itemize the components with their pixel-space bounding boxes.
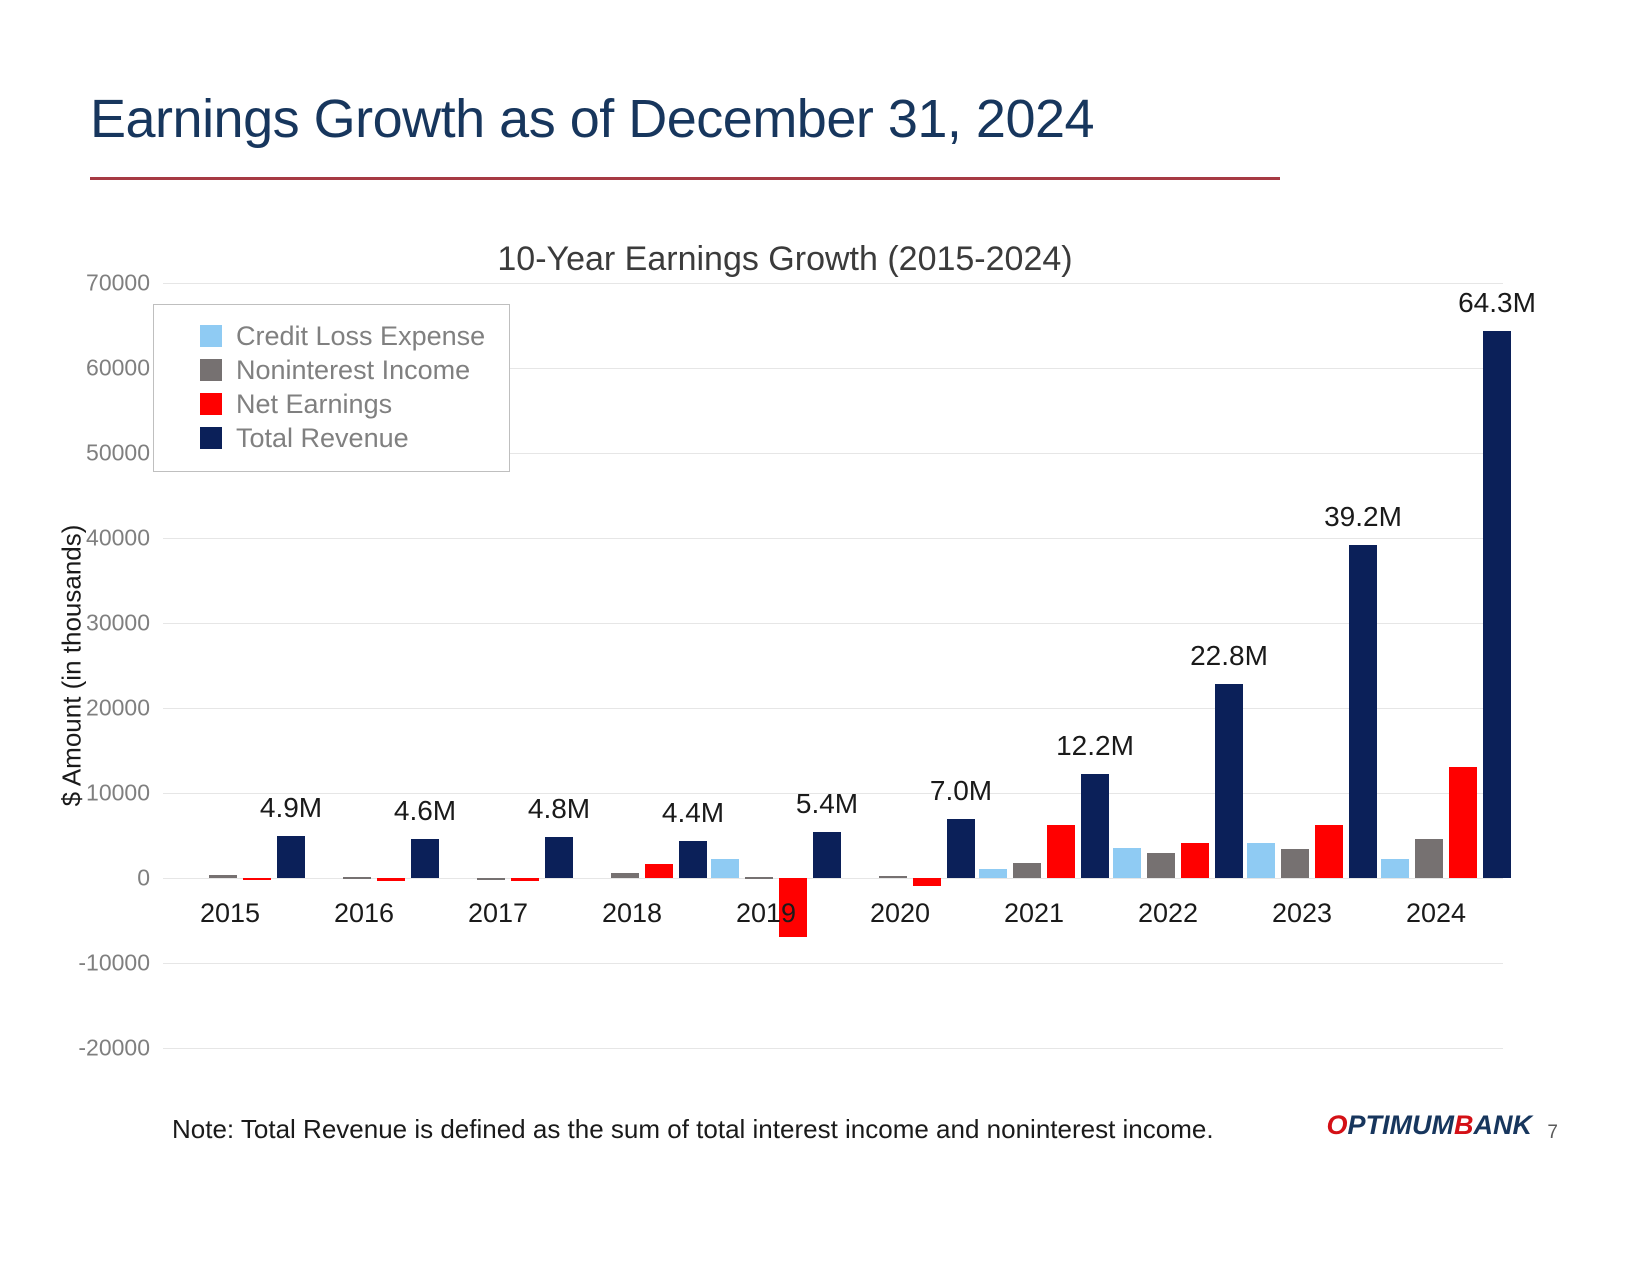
bar-value-label: 39.2M (1293, 501, 1433, 533)
bar (979, 869, 1007, 878)
y-axis-tick-label: 20000 (86, 695, 150, 722)
x-axis-tick-label: 2017 (431, 898, 565, 929)
legend-label: Net Earnings (236, 389, 392, 419)
y-axis-tick-label: 30000 (86, 610, 150, 637)
bar-group (565, 283, 699, 1048)
y-axis-label: $ Amount (in thousands) (52, 283, 92, 1048)
legend-label: Credit Loss Expense (236, 321, 485, 351)
x-axis-tick-label: 2015 (163, 898, 297, 929)
bar (913, 878, 941, 886)
y-axis-label-text: $ Amount (in thousands) (57, 525, 88, 807)
page-number: 7 (1547, 1122, 1558, 1144)
bar (1247, 843, 1275, 878)
bar (377, 878, 405, 881)
legend-item[interactable]: Net Earnings (200, 389, 485, 419)
bar (645, 864, 673, 878)
bar (477, 878, 505, 880)
bar-value-label: 5.4M (757, 788, 897, 820)
bar-group (833, 283, 967, 1048)
y-axis-tick-label: 0 (137, 865, 150, 892)
bar (879, 876, 907, 878)
bar-value-label: 22.8M (1159, 640, 1299, 672)
bar-group (699, 283, 833, 1048)
optimumbank-logo: OPTIMUMBANK (1327, 1110, 1533, 1141)
bar-value-label: 4.4M (623, 797, 763, 829)
x-axis-tick-label: 2022 (1101, 898, 1235, 929)
bar-value-label: 4.9M (221, 792, 361, 824)
legend-label: Total Revenue (236, 423, 409, 453)
legend-swatch-icon (200, 427, 222, 449)
earnings-growth-chart: 10-Year Earnings Growth (2015-2024) $ Am… (0, 220, 1650, 1100)
bar-value-label: 7.0M (891, 775, 1031, 807)
logo-part-ank: ANK (1474, 1110, 1533, 1140)
logo-part-b: B (1454, 1110, 1474, 1140)
legend-label: Noninterest Income (236, 355, 470, 385)
bar (1181, 843, 1209, 878)
bar (343, 877, 371, 879)
x-axis-tick-label: 2016 (297, 898, 431, 929)
gridline (163, 1048, 1503, 1049)
y-axis-tick-label: 70000 (86, 270, 150, 297)
x-axis-tick-label: 2023 (1235, 898, 1369, 929)
bar-value-label: 64.3M (1427, 287, 1567, 319)
y-axis-tick-label: 10000 (86, 780, 150, 807)
bar (711, 859, 739, 878)
bar-group (967, 283, 1101, 1048)
bar (1315, 825, 1343, 878)
bar (611, 873, 639, 878)
footnote: Note: Total Revenue is defined as the su… (172, 1114, 1214, 1145)
y-axis-tick-label: -10000 (78, 950, 150, 977)
x-axis-tick-label: 2019 (699, 898, 833, 929)
legend-swatch-icon (200, 359, 222, 381)
bar (1483, 331, 1511, 878)
bar (1281, 849, 1309, 878)
bar (745, 877, 773, 879)
logo-part-ptimum: PTIMUM (1348, 1110, 1454, 1140)
legend-item[interactable]: Total Revenue (200, 423, 485, 453)
chart-title: 10-Year Earnings Growth (2015-2024) (0, 240, 1650, 279)
legend-swatch-icon (200, 393, 222, 415)
bar (1381, 859, 1409, 878)
bar (243, 878, 271, 880)
title-divider (90, 177, 1280, 180)
legend-swatch-icon (200, 325, 222, 347)
bar (1449, 767, 1477, 878)
x-axis-tick-label: 2020 (833, 898, 967, 929)
bar-value-label: 4.6M (355, 795, 495, 827)
chart-legend: Credit Loss ExpenseNoninterest IncomeNet… (153, 304, 510, 472)
bar (1147, 853, 1175, 878)
y-axis-tick-label: -20000 (78, 1035, 150, 1062)
bar (1113, 848, 1141, 878)
bar (511, 878, 539, 881)
page-title: Earnings Growth as of December 31, 2024 (90, 88, 1094, 150)
bar-group (1369, 283, 1503, 1048)
y-axis-tick-label: 60000 (86, 355, 150, 382)
logo-part-o: O (1327, 1110, 1348, 1140)
x-axis-tick-label: 2024 (1369, 898, 1503, 929)
legend-item[interactable]: Noninterest Income (200, 355, 485, 385)
bar-value-label: 12.2M (1025, 730, 1165, 762)
bar-value-label: 4.8M (489, 793, 629, 825)
bar (1013, 863, 1041, 878)
x-axis-tick-label: 2021 (967, 898, 1101, 929)
y-axis-tick-label: 40000 (86, 525, 150, 552)
bar (1415, 839, 1443, 878)
bar (1047, 825, 1075, 878)
legend-item[interactable]: Credit Loss Expense (200, 321, 485, 351)
bar (209, 875, 237, 878)
y-axis-tick-label: 50000 (86, 440, 150, 467)
x-axis-tick-label: 2018 (565, 898, 699, 929)
